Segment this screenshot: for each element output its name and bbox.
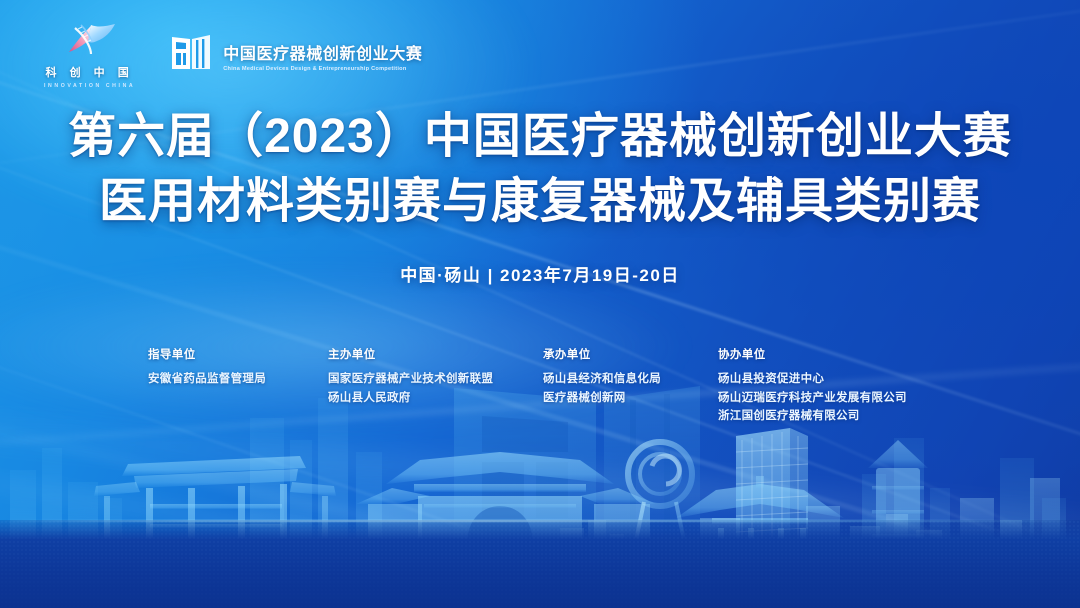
sponsor-item: 砀山县经济和信息化局 xyxy=(543,370,718,389)
sponsor-column-guidance: 指导单位 安徽省药品监督管理局 xyxy=(148,346,328,426)
innovation-china-cn: 科 创 中 国 xyxy=(46,64,134,80)
sponsor-item: 砀山县投资促进中心 xyxy=(718,370,978,389)
innovation-china-bird-dna-icon xyxy=(61,22,119,61)
title-block: 第六届（2023）中国医疗器械创新创业大赛 医用材料类别赛与康复器械及辅具类别赛… xyxy=(0,104,1080,286)
sponsor-item: 医疗器械创新网 xyxy=(543,389,718,408)
sponsor-column-title: 主办单位 xyxy=(328,346,543,362)
sponsor-column-title: 协办单位 xyxy=(718,346,978,362)
sponsor-block: 指导单位 安徽省药品监督管理局 主办单位 国家医疗器械产业技术创新联盟 砀山县人… xyxy=(148,346,978,426)
competition-logo: 中国医疗器械创新创业大赛 China Medical Devices Desig… xyxy=(169,31,422,80)
innovation-china-logo: 科 创 中 国 INNOVATION CHINA xyxy=(44,22,135,89)
sponsor-item: 安徽省药品监督管理局 xyxy=(148,370,328,389)
open-door-logo-icon xyxy=(169,31,213,80)
sponsor-column-host: 主办单位 国家医疗器械产业技术创新联盟 砀山县人民政府 xyxy=(328,346,543,426)
main-title-line-1: 第六届（2023）中国医疗器械创新创业大赛 xyxy=(0,104,1080,169)
sponsor-item: 砀山县人民政府 xyxy=(328,389,543,408)
sponsor-item: 国家医疗器械产业技术创新联盟 xyxy=(328,370,543,389)
sponsor-item: 砀山迈瑞医疗科技产业发展有限公司 xyxy=(718,389,978,408)
sponsor-column-title: 指导单位 xyxy=(148,346,328,362)
poster-root: 科 创 中 国 INNOVATION CHINA 中国医疗器械创新创业大赛 Ch… xyxy=(0,0,1080,608)
header-logos: 科 创 中 国 INNOVATION CHINA 中国医疗器械创新创业大赛 Ch… xyxy=(44,22,422,89)
sponsor-column-coorganizer: 协办单位 砀山县投资促进中心 砀山迈瑞医疗科技产业发展有限公司 浙江国创医疗器械… xyxy=(718,346,978,426)
sponsor-column-organizer: 承办单位 砀山县经济和信息化局 医疗器械创新网 xyxy=(543,346,718,426)
sponsor-column-title: 承办单位 xyxy=(543,346,718,362)
ground-texture xyxy=(0,520,1080,608)
competition-name-cn: 中国医疗器械创新创业大赛 xyxy=(223,40,422,64)
main-title-line-2: 医用材料类别赛与康复器械及辅具类别赛 xyxy=(0,169,1080,234)
competition-name-en: China Medical Devices Design & Entrepren… xyxy=(223,66,422,72)
sponsor-item: 浙江国创医疗器械有限公司 xyxy=(718,407,978,426)
innovation-china-en: INNOVATION CHINA xyxy=(44,83,135,89)
event-location-date: 中国·砀山 | 2023年7月19日-20日 xyxy=(0,261,1080,286)
